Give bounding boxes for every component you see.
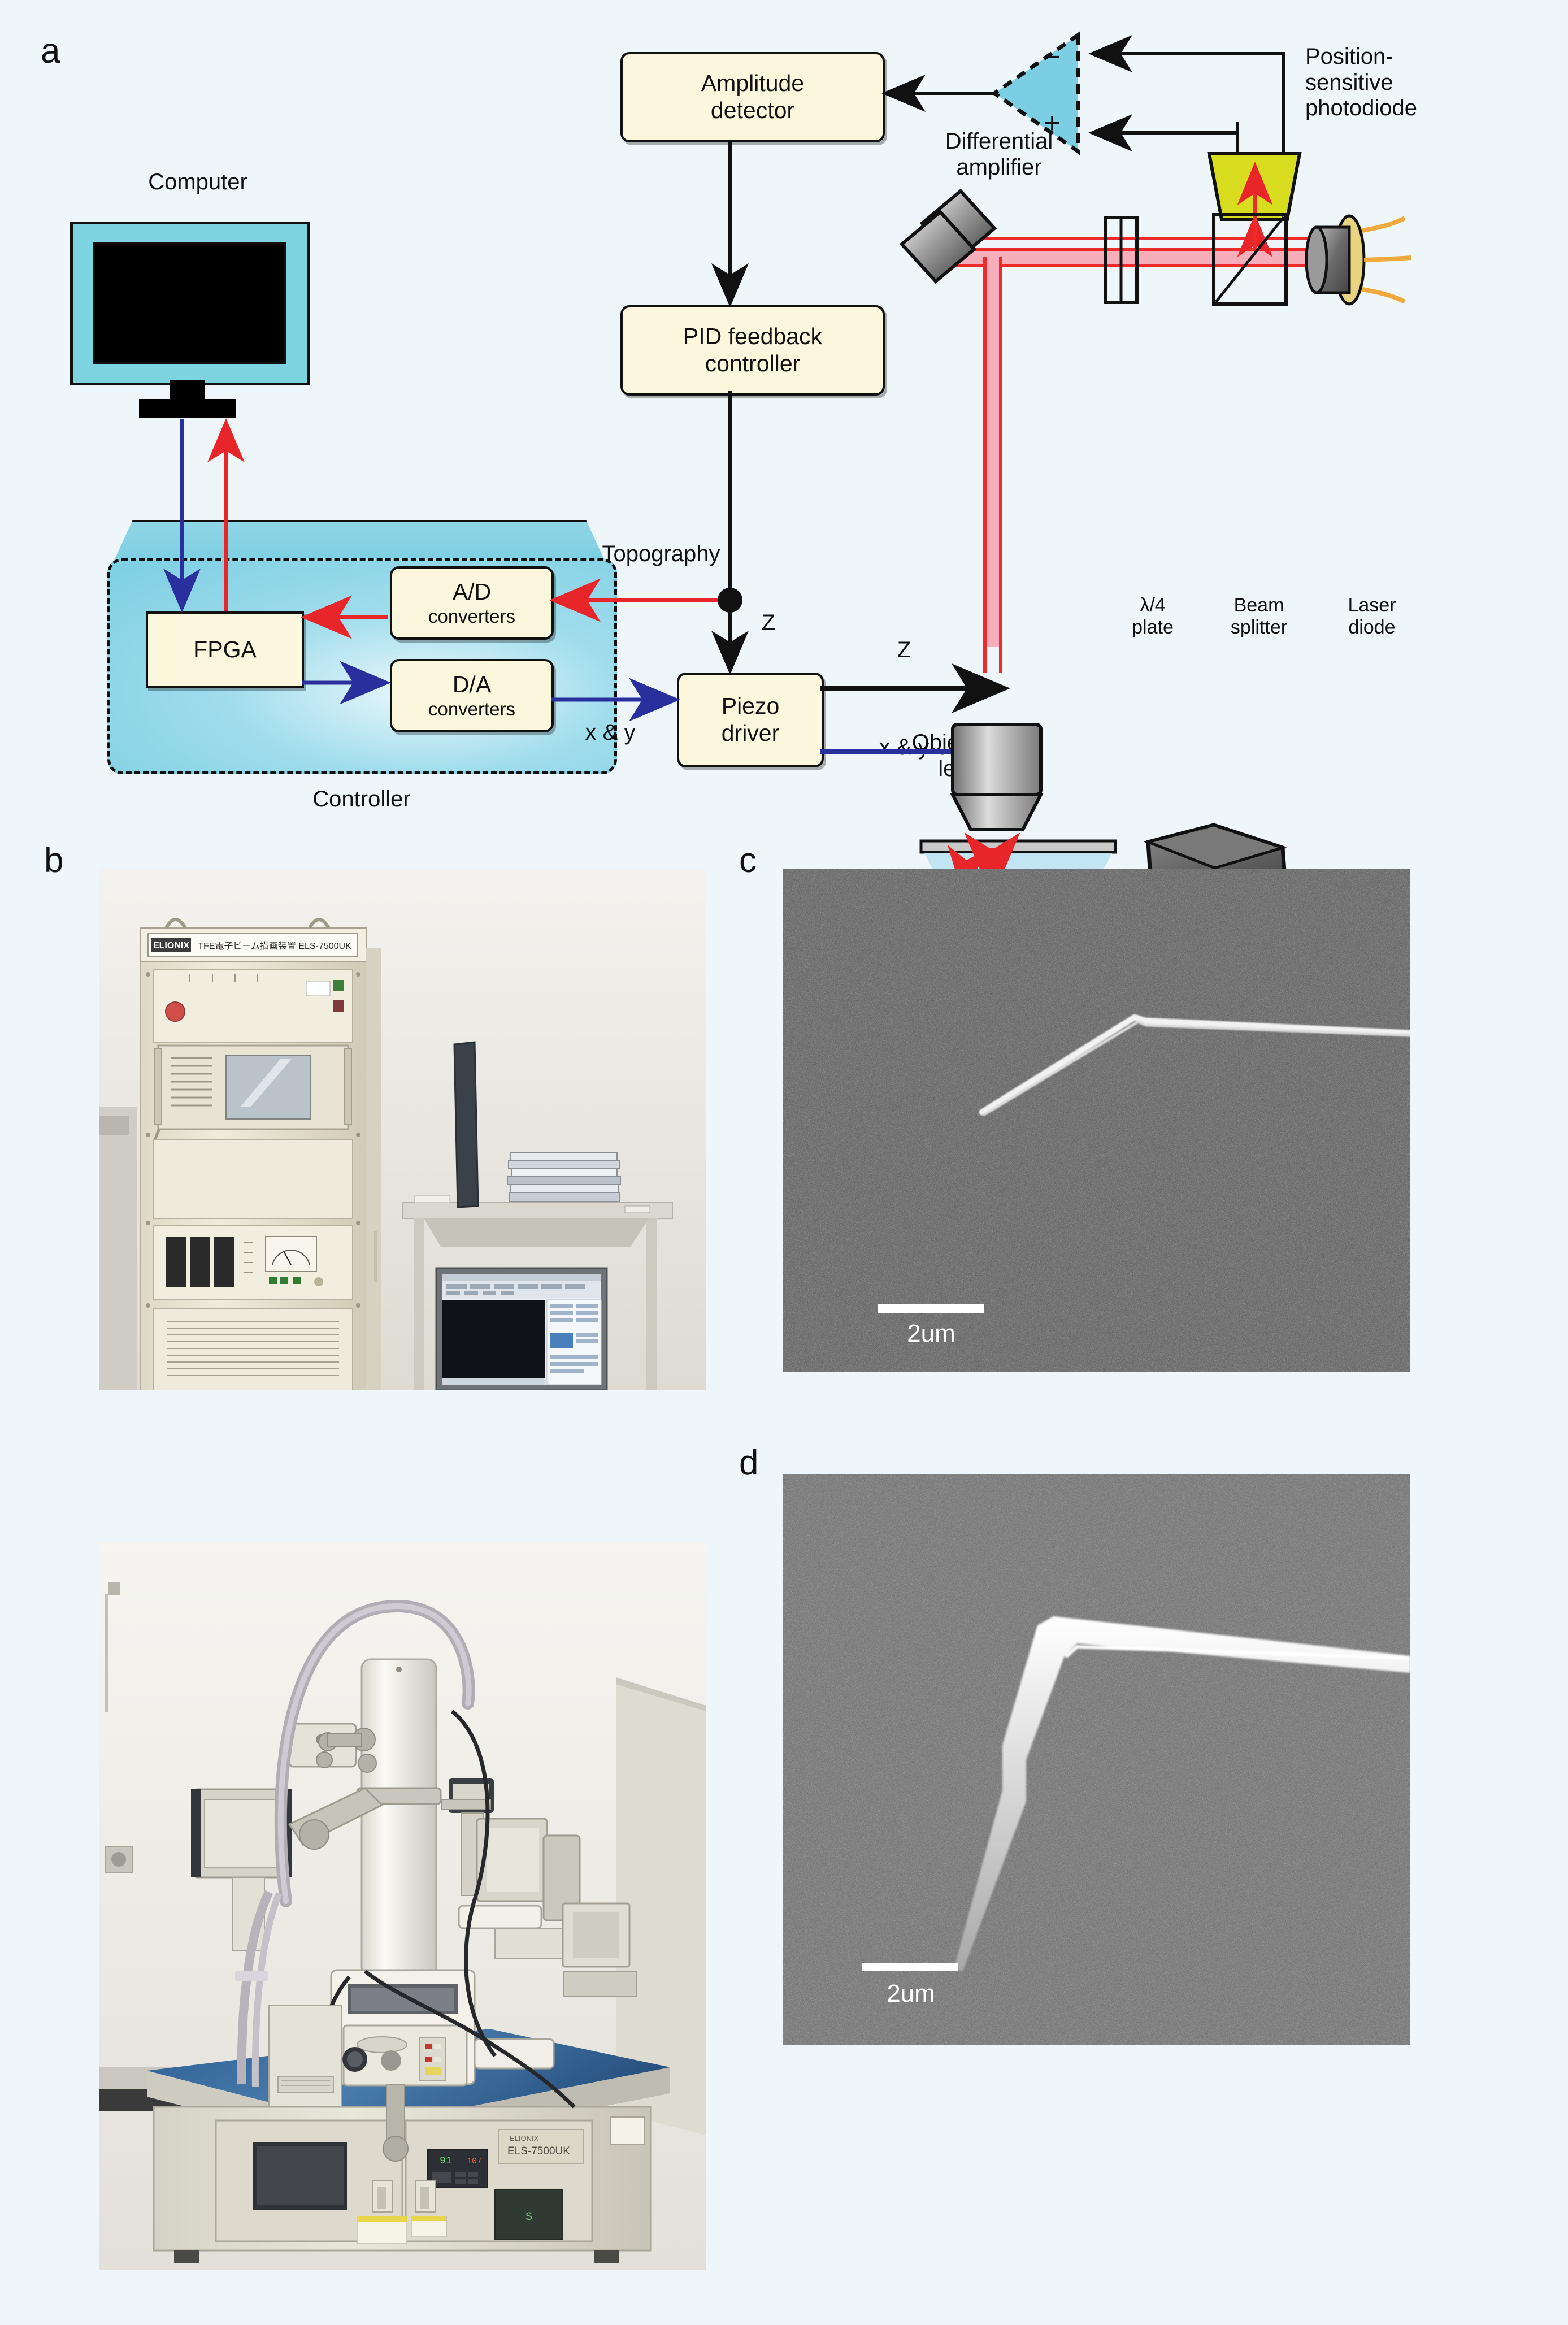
controller-top-slab (113, 520, 606, 563)
panel-d-sem-image: 2um (783, 1474, 1410, 2045)
topography-label: Topography (542, 541, 780, 567)
panel-b-photo-top: ELIONIX TFE電子ビーム描画装置 ELS-7500UK (99, 869, 706, 1390)
panel-letter-b: b (44, 843, 63, 878)
da-converters-title: D/A (453, 671, 491, 699)
svg-text:2um: 2um (907, 1320, 955, 1347)
position-sensitive-photodiode-label: Position- sensitive photodiode (1305, 44, 1543, 122)
pid-controller-box: PID feedback controller (620, 305, 885, 396)
monitor-neck (170, 380, 205, 400)
ad-converters-box: A/D converters (390, 566, 554, 640)
svg-text:107: 107 (467, 2157, 482, 2166)
panel-letter-c: c (739, 843, 757, 878)
monitor-base (139, 399, 236, 418)
svg-text:ELS-7500UK: ELS-7500UK (507, 2145, 570, 2157)
pid-controller-label: PID feedback controller (683, 323, 822, 377)
figure-root: a b c d Computer Controller FPGA A/D con… (0, 0, 1568, 2325)
amplitude-detector-box: Amplitude detector (620, 52, 885, 142)
ad-converters-title: A/D (453, 579, 491, 606)
panel-b-photo-bottom: ELIONIX ELS-7500UK 91 107 S (99, 1542, 706, 2270)
z-signal-label: Z (746, 610, 791, 636)
laser-diode-label: Laser diode (1315, 595, 1428, 639)
svg-text:ELIONIX: ELIONIX (510, 2134, 539, 2142)
quarter-wave-plate-label: λ/4 plate (1102, 595, 1204, 639)
piezo-driver-box: Piezo driver (677, 673, 824, 767)
panel-letter-a: a (41, 34, 60, 69)
svg-text:2um: 2um (887, 1980, 935, 2007)
da-converters-box: D/A converters (390, 659, 554, 732)
svg-text:91: 91 (440, 2155, 452, 2167)
fpga-label: FPGA (193, 636, 257, 663)
svg-text:S: S (525, 2211, 532, 2224)
computer-monitor-screen (93, 242, 286, 364)
piezo-driver-label: Piezo driver (722, 693, 780, 747)
svg-text:−: − (1044, 41, 1061, 73)
objective-lens-label: Objective lens (894, 730, 1024, 782)
amplitude-detector-label: Amplitude detector (701, 70, 804, 124)
svg-text:ELIONIX: ELIONIX (153, 941, 189, 951)
controller-label: Controller (113, 787, 610, 813)
z-scanner-signal-label: Z (881, 637, 927, 663)
fpga-box: FPGA (146, 611, 304, 688)
panel-c-sem-image: 2um (783, 869, 1410, 1372)
beam-splitter-label: Beam splitter (1202, 595, 1315, 639)
differential-amplifier-label: Differential amplifier (903, 129, 1095, 180)
computer-label: Computer (85, 170, 311, 196)
panel-letter-d: d (739, 1446, 758, 1481)
da-converters-subtitle: converters (428, 699, 515, 720)
ad-converters-subtitle: converters (428, 606, 515, 627)
svg-text:TFE電子ビーム描画装置 ELS-7500UK: TFE電子ビーム描画装置 ELS-7500UK (198, 941, 351, 951)
xy-controller-label: x & y (554, 720, 667, 746)
